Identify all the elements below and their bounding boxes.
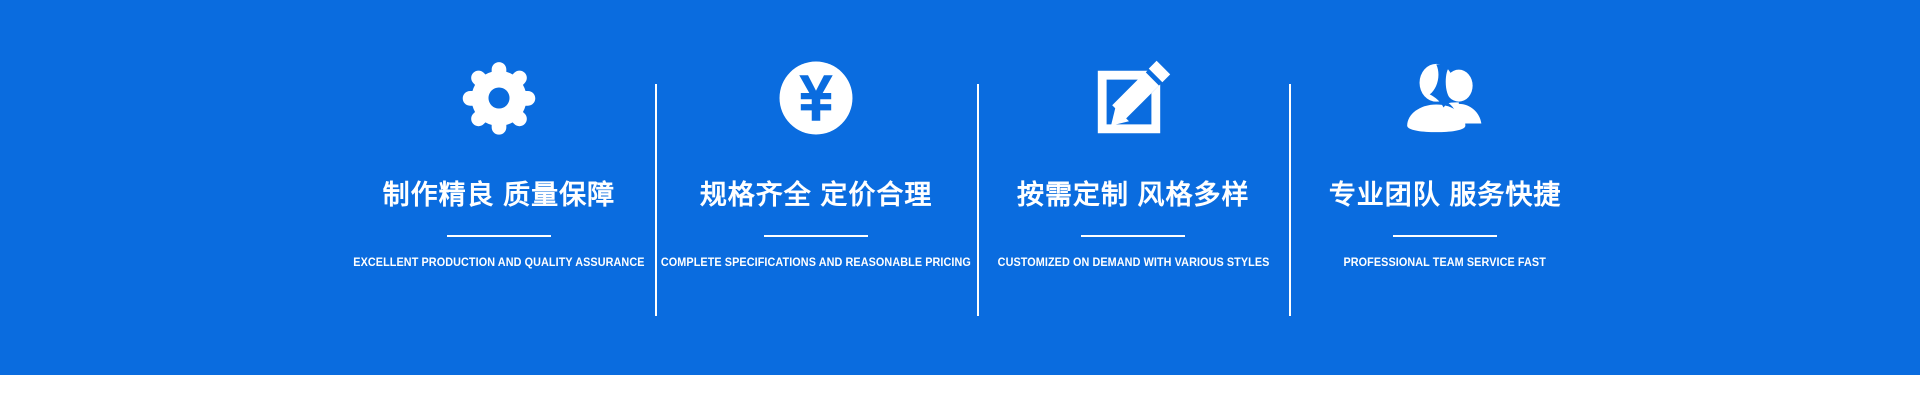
- feature-banner: 制作精良 质量保障 EXCELLENT PRODUCTION AND QUALI…: [0, 0, 1920, 375]
- feature-subtitle: COMPLETE SPECIFICATIONS AND REASONABLE P…: [661, 258, 971, 270]
- feature-title: 制作精良 质量保障: [383, 182, 616, 209]
- feature-subtitle: PROFESSIONAL TEAM SERVICE FAST: [1344, 258, 1546, 270]
- title-underline: [764, 235, 868, 237]
- title-underline: [1081, 235, 1185, 237]
- title-underline: [447, 235, 551, 237]
- feature-item-quality[interactable]: 制作精良 质量保障 EXCELLENT PRODUCTION AND QUALI…: [343, 0, 655, 375]
- bottom-white-strip: [0, 375, 1920, 401]
- feature-item-pricing[interactable]: 规格齐全 定价合理 COMPLETE SPECIFICATIONS AND RE…: [655, 0, 978, 375]
- feature-title: 规格齐全 定价合理: [700, 182, 933, 209]
- yen-circle-icon: [776, 58, 856, 138]
- feature-item-team[interactable]: 专业团队 服务快捷 PROFESSIONAL TEAM SERVICE FAST: [1289, 0, 1601, 375]
- feature-list: 制作精良 质量保障 EXCELLENT PRODUCTION AND QUALI…: [343, 0, 1601, 375]
- feature-subtitle: CUSTOMIZED ON DEMAND WITH VARIOUS STYLES: [997, 258, 1269, 270]
- gear-icon: [459, 58, 539, 138]
- edit-square-icon: [1093, 58, 1173, 138]
- feature-subtitle: EXCELLENT PRODUCTION AND QUALITY ASSURAN…: [353, 258, 644, 270]
- feature-title: 专业团队 服务快捷: [1329, 182, 1562, 209]
- feature-title: 按需定制 风格多样: [1017, 182, 1250, 209]
- feature-item-customization[interactable]: 按需定制 风格多样 CUSTOMIZED ON DEMAND WITH VARI…: [977, 0, 1289, 375]
- title-underline: [1393, 235, 1497, 237]
- users-icon: [1405, 58, 1485, 138]
